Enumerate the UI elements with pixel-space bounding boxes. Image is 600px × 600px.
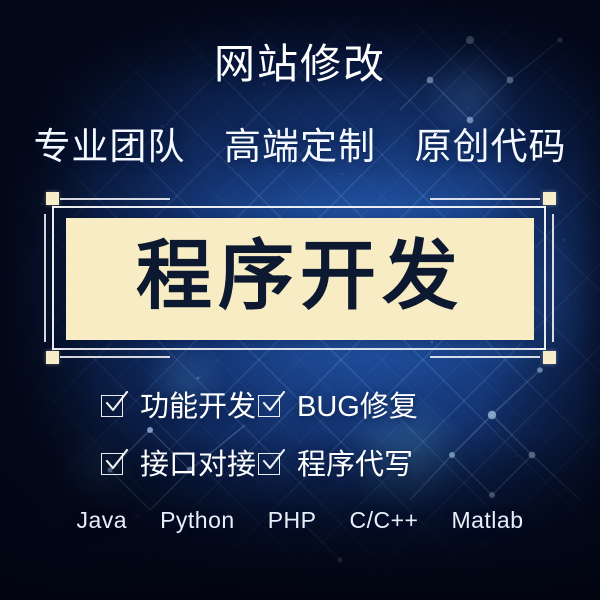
feature-row: 接口对接 程序代写 [0, 436, 600, 494]
framed-banner: 程序开发 [40, 196, 560, 360]
checkbox-checked-icon [258, 395, 282, 419]
feature-item: BUG修复 [244, 378, 500, 436]
language-item: C/C++ [349, 509, 418, 532]
frame-corner-top-left [46, 192, 59, 205]
frame-line-right [544, 206, 546, 350]
cream-panel: 程序开发 [66, 218, 534, 340]
frame-corner-bottom-left [46, 351, 59, 364]
feature-row: 功能开发 BUG修复 [0, 378, 600, 436]
frame-accent-top-left [60, 198, 170, 200]
frame-accent-right [552, 214, 554, 342]
banner-main-text: 程序开发 [136, 239, 464, 315]
subtitle-item-3: 原创代码 [415, 126, 567, 167]
page-title: 网站修改 [0, 44, 600, 85]
checkbox-checked-icon [258, 453, 282, 477]
language-item: PHP [268, 509, 317, 532]
feature-label: 接口对接 [140, 451, 256, 480]
feature-label: BUG修复 [297, 393, 418, 422]
feature-item: 程序代写 [244, 436, 500, 494]
feature-item: 接口对接 [0, 436, 244, 494]
frame-corner-bottom-right [543, 351, 556, 364]
poster-content: 网站修改 专业团队 高端定制 原创代码 程序开发 [0, 0, 600, 600]
promo-poster: 网站修改 专业团队 高端定制 原创代码 程序开发 [0, 0, 600, 600]
subtitle-item-1: 专业团队 [33, 126, 185, 167]
language-item: Matlab [451, 509, 523, 532]
feature-label: 程序代写 [297, 451, 413, 480]
frame-corner-top-right [543, 192, 556, 205]
frame-accent-top-right [430, 198, 540, 200]
frame-accent-left [44, 214, 46, 342]
frame-accent-bottom-right [430, 356, 540, 358]
frame-line-top [52, 206, 546, 208]
feature-list: 功能开发 BUG修复 [0, 378, 600, 494]
checkbox-checked-icon [101, 395, 125, 419]
feature-item: 功能开发 [0, 378, 244, 436]
frame-line-bottom [52, 348, 546, 350]
checkbox-checked-icon [101, 453, 125, 477]
language-list: Java Python PHP C/C++ Matlab [0, 509, 600, 532]
language-item: Python [160, 509, 235, 532]
language-item: Java [76, 509, 127, 532]
frame-accent-bottom-left [60, 356, 170, 358]
feature-label: 功能开发 [140, 393, 256, 422]
subtitle-row: 专业团队 高端定制 原创代码 [0, 128, 600, 165]
frame-line-left [52, 206, 54, 350]
subtitle-item-2: 高端定制 [224, 126, 376, 167]
